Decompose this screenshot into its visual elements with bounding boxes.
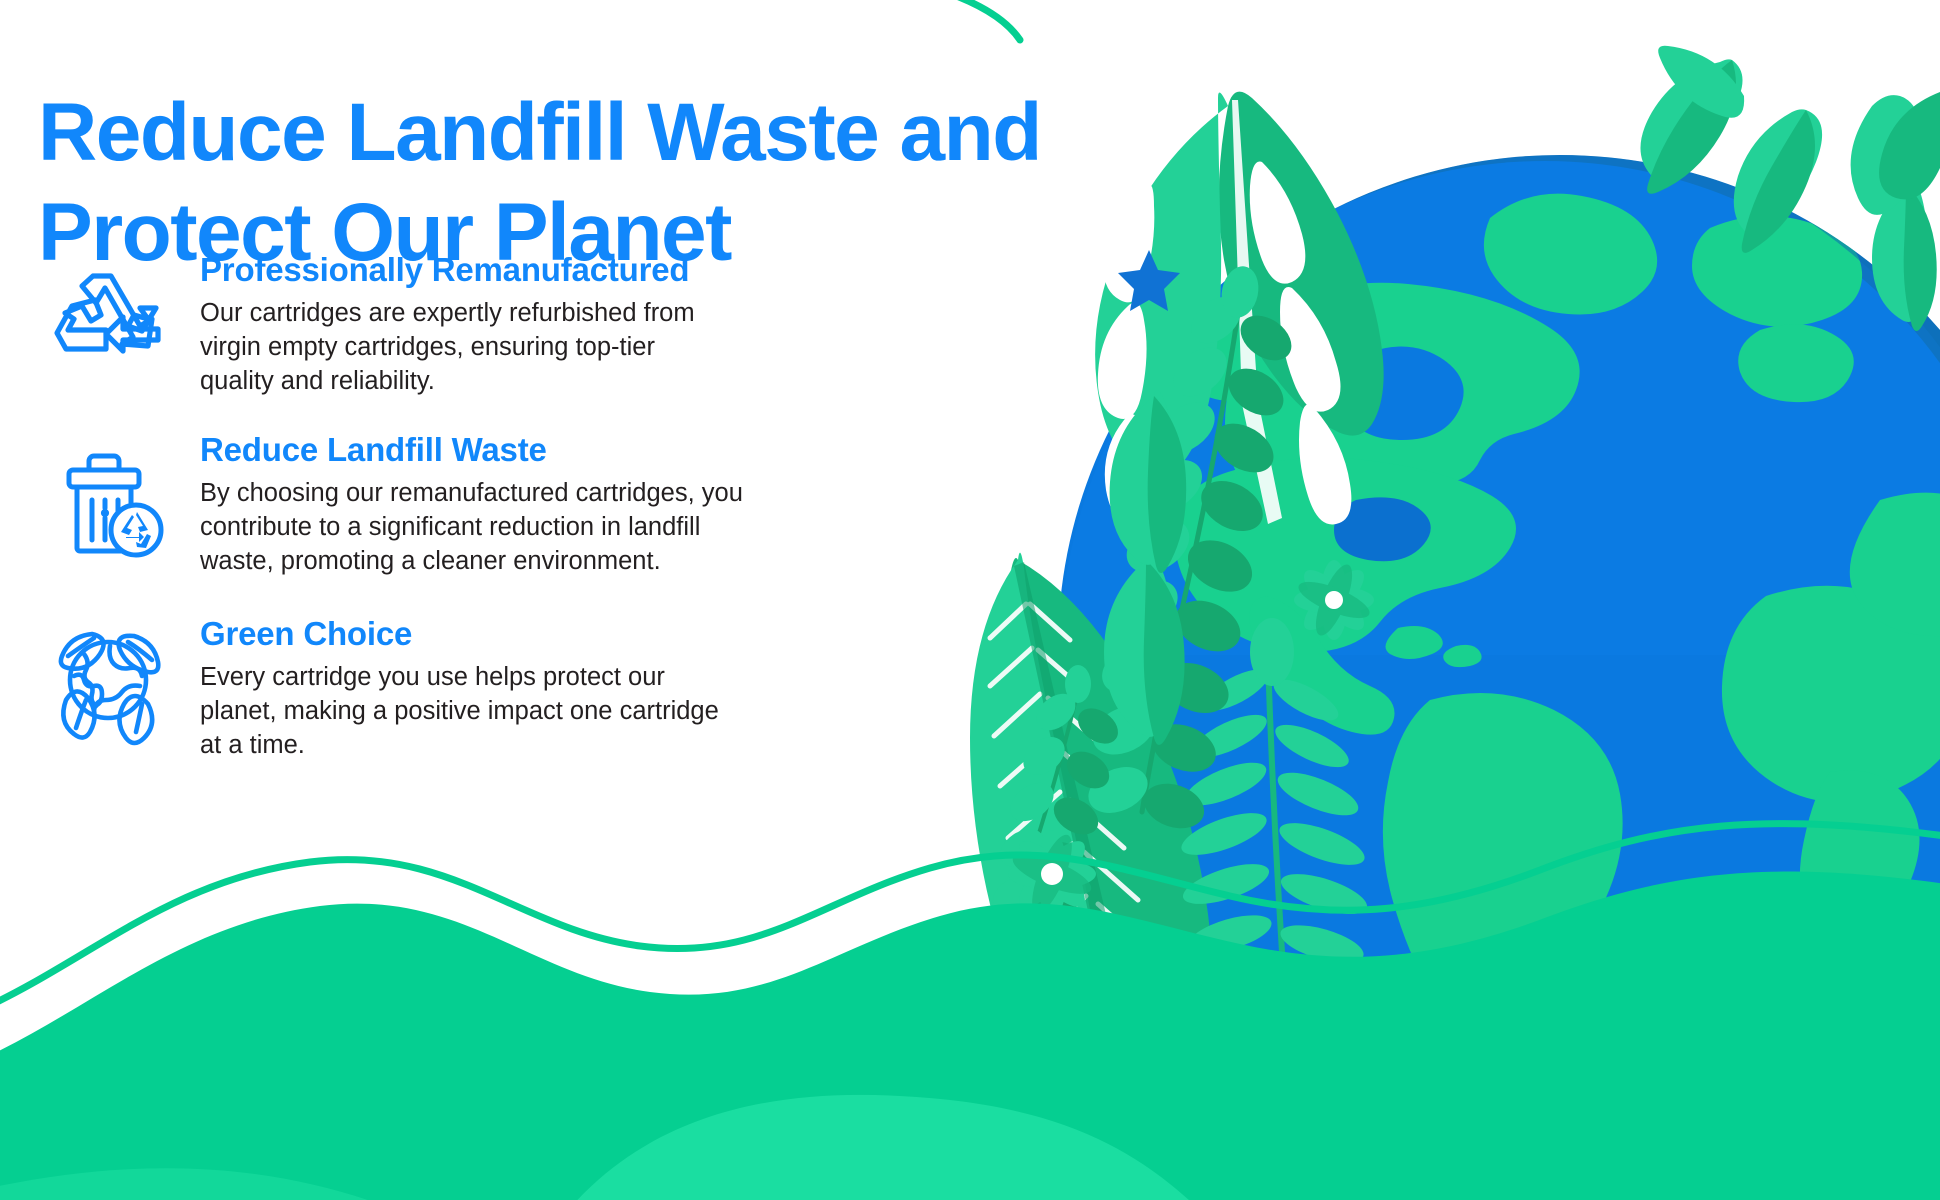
floating-leaf-icon-4: [1734, 109, 1822, 253]
content-column: Reduce Landfill Waste and Protect Our Pl…: [0, 0, 1100, 1200]
floating-leaf-icon-3: [1640, 59, 1742, 193]
daisy-flower-icon: [1294, 560, 1374, 640]
leaf-sprout-icon: [1658, 46, 1744, 118]
eucalyptus-sprig-icon: [1081, 263, 1300, 836]
feature-list: Professionally Remanufactured Our cartri…: [0, 252, 820, 786]
earth-globe-icon: [1058, 140, 1940, 1200]
feature-body: Every cartridge you use helps protect ou…: [200, 661, 720, 763]
feature-item-green-choice: Green Choice Every cartridge you use hel…: [0, 616, 820, 786]
feature-body: By choosing our remanufactured cartridge…: [200, 477, 770, 579]
monstera-leaf-icon: [1095, 92, 1384, 525]
trash-bin-recycle-icon: [48, 444, 168, 564]
feature-body: Our cartridges are expertly refurbished …: [200, 297, 720, 399]
fern-frond-icon: [1177, 618, 1372, 1172]
corner-leaf-cluster-icon: [1851, 92, 1940, 215]
feature-item-landfill: Reduce Landfill Waste By choosing our re…: [0, 432, 820, 602]
recycle-triangle-icon: [48, 262, 168, 382]
feature-title: Reduce Landfill Waste: [200, 432, 820, 468]
floating-leaf-icon: [1104, 554, 1185, 745]
feature-title: Green Choice: [200, 616, 820, 652]
feature-item-remanufactured: Professionally Remanufactured Our cartri…: [0, 252, 820, 422]
feature-title: Professionally Remanufactured: [200, 252, 820, 288]
infographic-canvas: Reduce Landfill Waste and Protect Our Pl…: [0, 0, 1940, 1200]
floating-leaf-icon-5: [1872, 179, 1937, 331]
headline-line-1: Reduce Landfill Waste and: [38, 83, 1138, 183]
globe-leaves-icon: [48, 620, 168, 740]
floating-leaf-icon-2: [1110, 390, 1187, 573]
